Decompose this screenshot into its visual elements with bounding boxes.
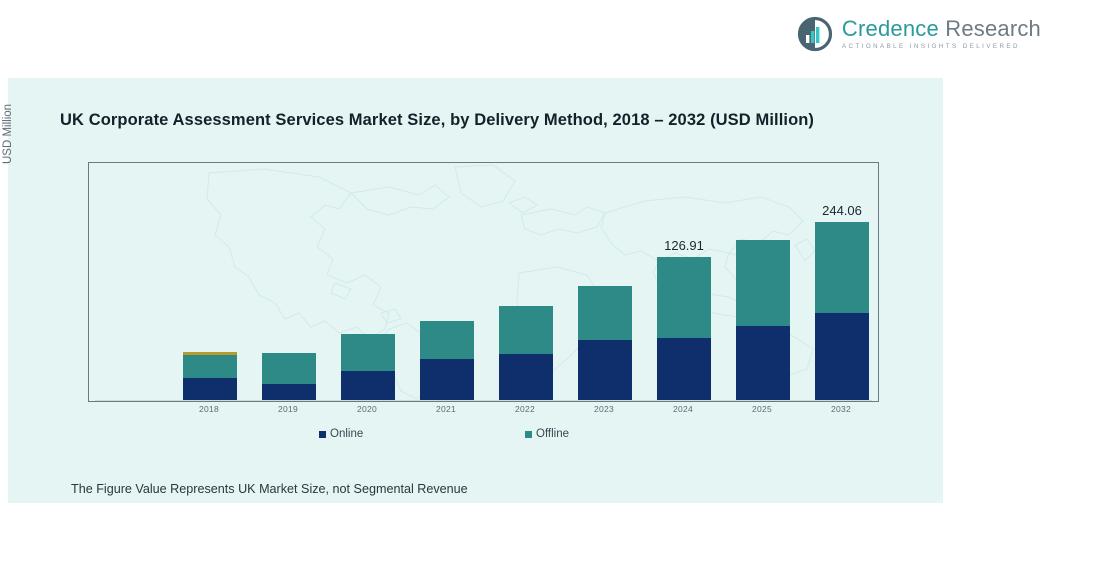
x-axis-label-2020: 2020 [340, 404, 394, 414]
bar-stack [262, 353, 316, 401]
bar-stack [183, 352, 237, 401]
x-axis-labels: 201820192020202120222023202420252032 [88, 404, 877, 420]
bar-stack [815, 222, 869, 401]
x-axis-label-2024: 2024 [656, 404, 710, 414]
bar-2018[interactable] [183, 162, 237, 401]
bar-2032[interactable]: 244.06 [815, 162, 869, 401]
bar-segment-online[interactable] [420, 359, 474, 401]
logo-wordmark: Credence Research [842, 18, 1041, 40]
x-axis-label-2022: 2022 [498, 404, 552, 414]
bar-group: 126.91244.06 [105, 163, 868, 401]
bar-segment-offline[interactable] [183, 355, 237, 378]
plot-area: 126.91244.06 [88, 162, 879, 402]
legend-label-offline: Offline [536, 428, 569, 440]
logo-tagline: Actionable Insights Delivered [842, 44, 1041, 50]
bar-segment-online[interactable] [341, 371, 395, 401]
credence-research-logo: Credence Research Actionable Insights De… [797, 16, 1041, 52]
y-axis-label: USD Million [2, 104, 14, 164]
bar-segment-offline[interactable] [736, 240, 790, 326]
bar-segment-offline[interactable] [815, 222, 869, 313]
logo-text: Credence Research Actionable Insights De… [842, 18, 1041, 50]
bar-value-label-2024: 126.91 [664, 238, 704, 253]
x-axis-label-2025: 2025 [735, 404, 789, 414]
legend-swatch-online [319, 431, 326, 438]
bar-segment-online[interactable] [815, 313, 869, 401]
bar-segment-offline[interactable] [420, 321, 474, 359]
bar-2021[interactable] [420, 162, 474, 401]
chart-panel: UK Corporate Assessment Services Market … [8, 78, 943, 503]
bar-stack [420, 321, 474, 401]
bar-stack [341, 334, 395, 401]
logo-word-research: Research [945, 16, 1041, 41]
x-axis-label-2032: 2032 [814, 404, 868, 414]
bar-segment-online[interactable] [262, 384, 316, 401]
bar-2025[interactable] [736, 162, 790, 401]
logo-word-credence: Credence [842, 16, 939, 41]
chart-title: UK Corporate Assessment Services Market … [60, 111, 814, 130]
page-header: Credence Research Actionable Insights De… [0, 0, 1117, 78]
x-axis-label-2019: 2019 [261, 404, 315, 414]
bar-segment-offline[interactable] [578, 286, 632, 340]
legend-item-online[interactable]: Online [319, 428, 363, 440]
bar-segment-online[interactable] [578, 340, 632, 401]
bar-segment-online[interactable] [736, 326, 790, 401]
bar-2020[interactable] [341, 162, 395, 401]
bar-stack [736, 240, 790, 401]
legend-label-online: Online [330, 428, 363, 440]
bar-segment-offline[interactable] [341, 334, 395, 371]
x-axis-label-2023: 2023 [577, 404, 631, 414]
bar-segment-offline[interactable] [499, 306, 553, 354]
bar-chart-circle-icon [797, 16, 833, 52]
chart-footnote: The Figure Value Represents UK Market Si… [71, 482, 468, 496]
bar-2019[interactable] [262, 162, 316, 401]
legend-item-offline[interactable]: Offline [525, 428, 569, 440]
bar-2022[interactable] [499, 162, 553, 401]
x-axis-baseline [95, 400, 872, 401]
bar-segment-online[interactable] [657, 338, 711, 401]
chart-legend: Online Offline [88, 428, 877, 444]
bar-stack [578, 286, 632, 401]
bar-stack [499, 306, 553, 401]
bar-segment-offline[interactable] [262, 353, 316, 384]
x-axis-label-2021: 2021 [419, 404, 473, 414]
bar-stack [657, 257, 711, 401]
bar-segment-offline[interactable] [657, 257, 711, 338]
bar-value-label-2032: 244.06 [822, 203, 862, 218]
bar-2023[interactable] [578, 162, 632, 401]
legend-swatch-offline [525, 431, 532, 438]
bar-2024[interactable]: 126.91 [657, 162, 711, 401]
x-axis-label-2018: 2018 [182, 404, 236, 414]
bar-segment-online[interactable] [499, 354, 553, 401]
bar-segment-online[interactable] [183, 378, 237, 401]
